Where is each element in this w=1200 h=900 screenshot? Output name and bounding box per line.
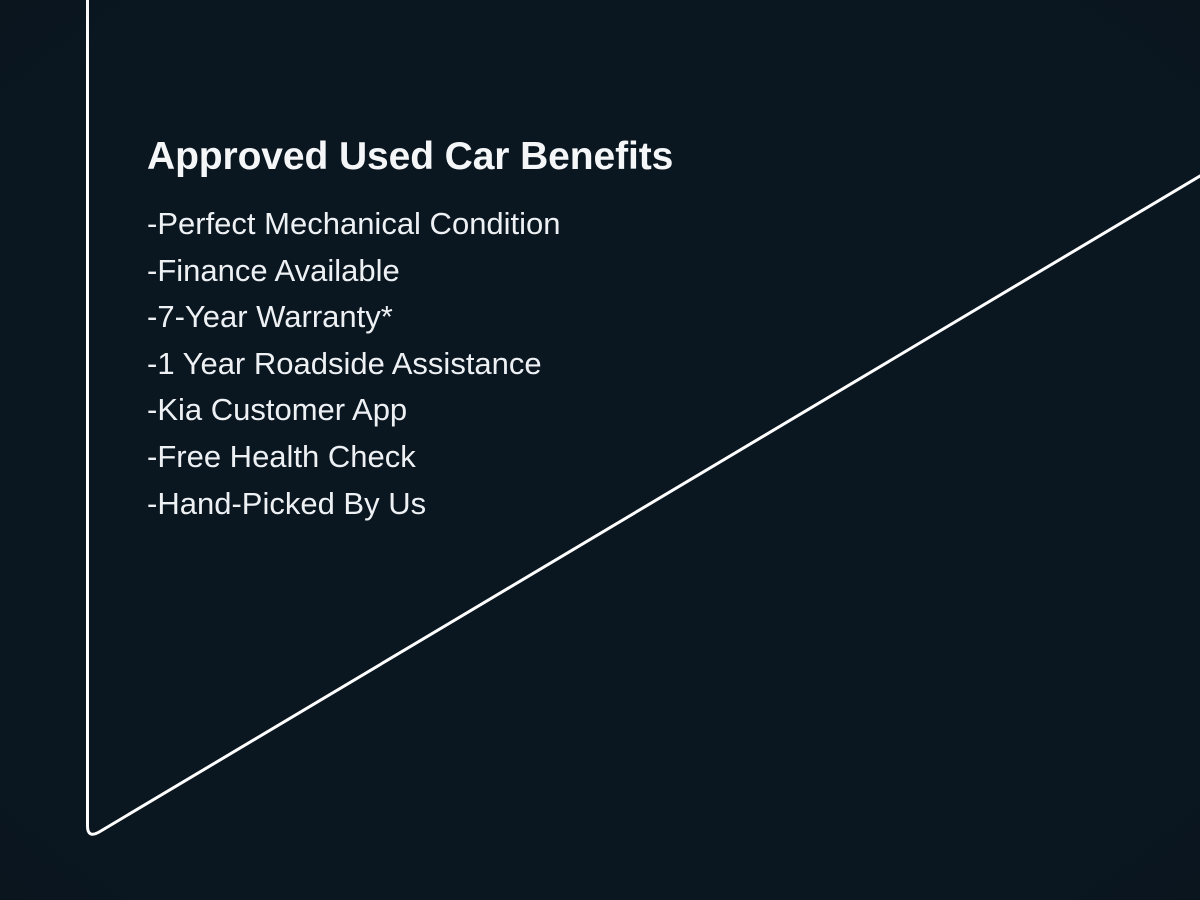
list-item: -Free Health Check <box>147 434 561 481</box>
bullet-marker: - <box>147 486 157 521</box>
page-title: Approved Used Car Benefits <box>147 136 673 179</box>
list-item: -Finance Available <box>147 248 561 295</box>
bullet-marker: - <box>147 253 157 288</box>
benefit-label: Perfect Mechanical Condition <box>157 206 560 241</box>
bullet-marker: - <box>147 299 157 334</box>
benefit-label: Hand-Picked By Us <box>157 486 426 521</box>
benefit-label: 7-Year Warranty* <box>157 299 392 334</box>
benefit-label: Kia Customer App <box>157 392 407 427</box>
bullet-marker: - <box>147 392 157 427</box>
slide-content: Approved Used Car Benefits -Perfect Mech… <box>0 0 1200 900</box>
list-item: -Kia Customer App <box>147 387 561 434</box>
list-item: -Hand-Picked By Us <box>147 481 561 528</box>
bullet-marker: - <box>147 206 157 241</box>
bullet-marker: - <box>147 439 157 474</box>
benefit-label: 1 Year Roadside Assistance <box>157 346 541 381</box>
list-item: -1 Year Roadside Assistance <box>147 341 561 388</box>
benefits-list: -Perfect Mechanical Condition -Finance A… <box>147 201 561 527</box>
slide-canvas: Approved Used Car Benefits -Perfect Mech… <box>0 0 1200 900</box>
list-item: -Perfect Mechanical Condition <box>147 201 561 248</box>
list-item: -7-Year Warranty* <box>147 294 561 341</box>
benefit-label: Free Health Check <box>157 439 415 474</box>
benefit-label: Finance Available <box>157 253 399 288</box>
bullet-marker: - <box>147 346 157 381</box>
